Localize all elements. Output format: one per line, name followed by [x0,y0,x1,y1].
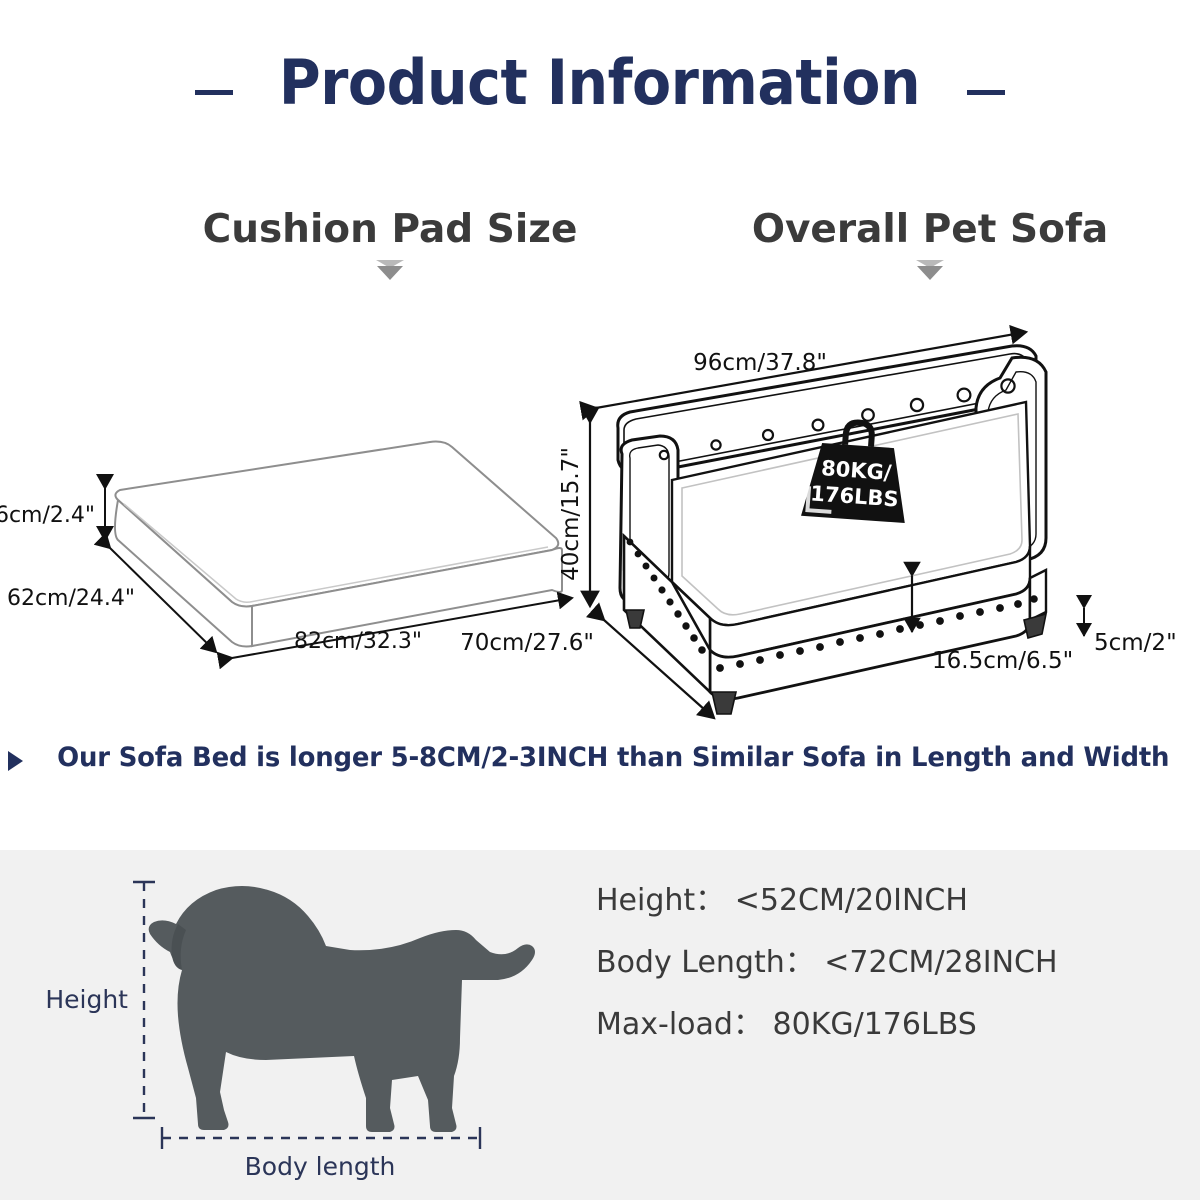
cushion-pad-shape [115,442,562,647]
pet-size-panel: Height Body length Height： <52CM/20INCH … [0,850,1200,1200]
cushion-pad-diagram: 6cm/2.4" 62cm/24.4" 82cm/32.3" [0,400,600,710]
sofa-heading-text: Overall Pet Sofa [600,210,1200,249]
sofa-base-height-label: 16.5cm/6.5" [932,648,1073,674]
spec-label-max-load: Max-load： [596,1007,763,1042]
sofa-height-label: 40cm/15.7" [558,447,584,581]
play-triangle-icon [8,751,23,771]
sofa-depth-label: 70cm/27.6" [460,630,594,656]
highlight-banner: Our Sofa Bed is longer 5-8CM/2-3INCH tha… [0,742,1200,773]
dog-size-figure: Height Body length [20,860,580,1190]
dog-silhouette-icon [136,886,535,1132]
sofa-leg-height-dimension: 5cm/2" [1084,608,1177,656]
page-title: Product Information [279,52,920,114]
spec-label-height: Height： [596,883,725,918]
chevron-down-double-icon [600,258,1200,284]
cushion-thickness-dimension: 6cm/2.4" [0,488,105,540]
cushion-thickness-label: 6cm/2.4" [0,503,95,528]
sofa-body-shape [618,346,1046,699]
spec-row-height: Height： <52CM/20INCH [596,886,1196,916]
cushion-depth-label: 62cm/24.4" [7,586,135,611]
highlight-banner-text: Our Sofa Bed is longer 5-8CM/2-3INCH tha… [57,742,1169,773]
spec-value-body-length: <72CM/28INCH [824,945,1057,980]
title-dash-left [195,90,233,95]
spec-value-height: <52CM/20INCH [735,883,968,918]
sofa-width-label: 96cm/37.8" [693,350,827,376]
pet-sofa-diagram: 80KG/ 176LBS 96cm/37.8" 40cm/15.7" 70cm/… [560,320,1200,720]
dog-body-length-label: Body length [245,1152,396,1181]
cushion-width-label: 82cm/32.3" [294,629,422,654]
pet-spec-list: Height： <52CM/20INCH Body Length： <72CM/… [596,886,1196,1072]
spec-label-body-length: Body Length： [596,945,815,980]
product-information-infographic: Product Information Cushion Pad Size Ove… [0,0,1200,1200]
weight-line1: 80KG/ [820,456,892,485]
spec-value-max-load: 80KG/176LBS [773,1007,977,1042]
dog-height-dimension [133,882,155,1118]
title-dash-right [967,90,1005,95]
dog-height-label: Height [45,985,128,1014]
sofa-section-heading: Overall Pet Sofa [600,210,1200,284]
page-title-row: Product Information [0,52,1200,114]
sofa-leg-height-label: 5cm/2" [1094,630,1177,656]
spec-row-body-length: Body Length： <72CM/28INCH [596,948,1196,978]
sofa-height-dimension: 40cm/15.7" [558,422,590,606]
spec-row-max-load: Max-load： 80KG/176LBS [596,1010,1196,1040]
